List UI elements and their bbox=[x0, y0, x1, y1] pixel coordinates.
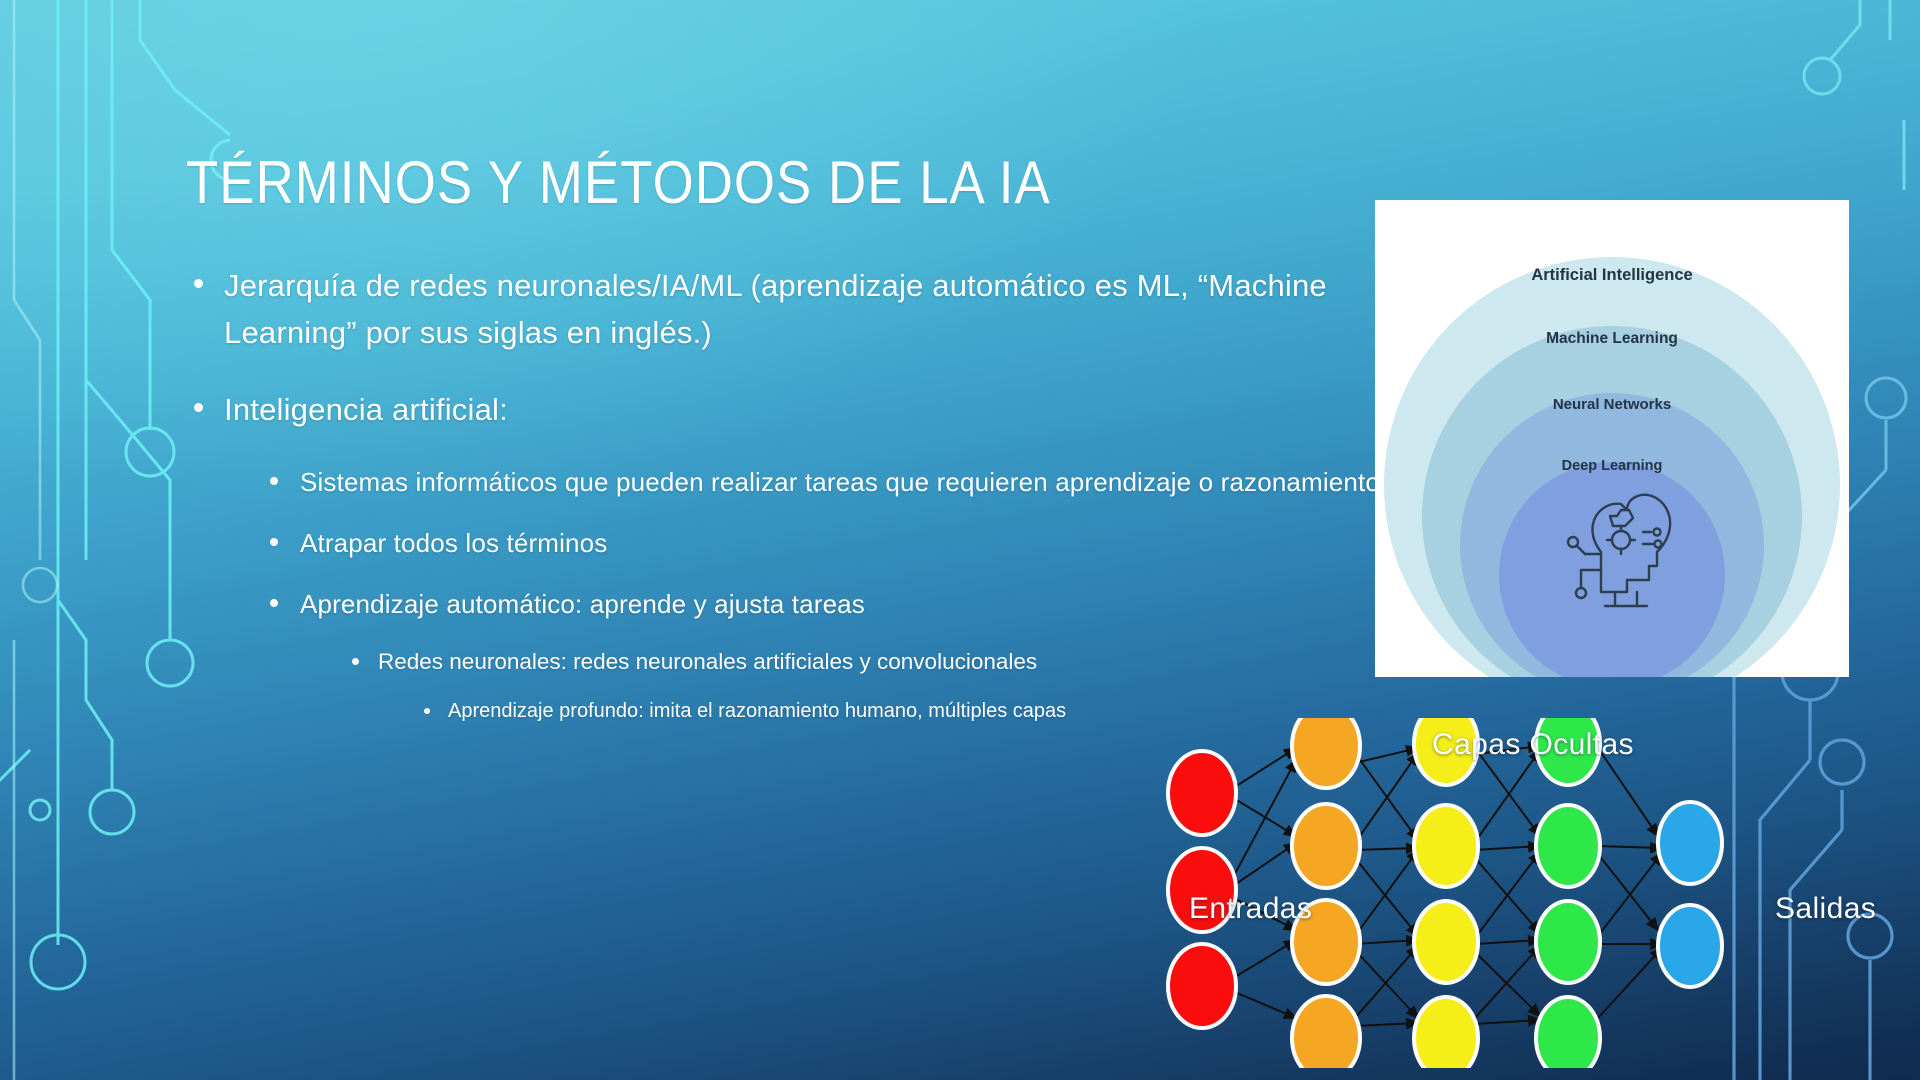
bullet-text: Jerarquía de redes neuronales/IA/ML (apr… bbox=[224, 262, 1386, 356]
bullet-level1: Inteligencia artificial: bbox=[186, 386, 1386, 433]
nn-label-outputs: Salidas bbox=[1775, 892, 1876, 926]
bullet-text: Aprendizaje automático: aprende y ajusta… bbox=[300, 585, 1386, 624]
nn-node bbox=[1536, 901, 1600, 983]
nn-node bbox=[1414, 997, 1478, 1068]
nn-label-inputs: Entradas bbox=[1189, 892, 1312, 926]
venn-label-dl: Deep Learning bbox=[1562, 458, 1663, 474]
nn-layer-inputs bbox=[1168, 751, 1236, 1028]
presentation-slide: TÉRMINOS Y MÉTODOS DE LA IA Jerarquía de… bbox=[0, 0, 1920, 1080]
bullet-dot-icon bbox=[194, 279, 203, 288]
venn-svg: Artificial Intelligence Machine Learning… bbox=[1375, 200, 1849, 677]
bullet-dot-icon bbox=[352, 658, 359, 665]
bullet-text: Sistemas informáticos que pueden realiza… bbox=[300, 463, 1386, 502]
nn-node bbox=[1658, 905, 1722, 987]
nn-node bbox=[1536, 997, 1600, 1068]
bullet-text: Redes neuronales: redes neuronales artif… bbox=[378, 646, 1386, 679]
nn-node bbox=[1536, 805, 1600, 887]
bullet-dot-icon bbox=[424, 708, 430, 714]
bullet-text: Inteligencia artificial: bbox=[224, 386, 1386, 433]
nn-node bbox=[1292, 996, 1360, 1068]
venn-label-ml: Machine Learning bbox=[1546, 330, 1678, 347]
nn-layer-outputs bbox=[1658, 802, 1722, 987]
bullet-level2: Aprendizaje automático: aprende y ajusta… bbox=[186, 585, 1386, 624]
bullet-level2: Sistemas informáticos que pueden realiza… bbox=[186, 463, 1386, 502]
nn-layer-hidden-3 bbox=[1536, 718, 1600, 1068]
nn-node bbox=[1658, 802, 1722, 884]
nn-node bbox=[1168, 751, 1236, 835]
bullet-dot-icon bbox=[270, 538, 278, 546]
slide-body: Jerarquía de redes neuronales/IA/ML (apr… bbox=[186, 262, 1386, 736]
nn-node bbox=[1292, 718, 1360, 788]
nn-label-hidden-layers: Capas Ocultas bbox=[1432, 728, 1634, 762]
bullet-level3: Redes neuronales: redes neuronales artif… bbox=[186, 646, 1386, 679]
nn-node bbox=[1414, 901, 1478, 983]
nn-node bbox=[1292, 804, 1360, 888]
bullet-dot-icon bbox=[194, 403, 203, 412]
venn-label-nn: Neural Networks bbox=[1553, 396, 1671, 413]
nn-layer-hidden-2 bbox=[1414, 718, 1478, 1068]
ai-hierarchy-venn-image: Artificial Intelligence Machine Learning… bbox=[1375, 200, 1849, 677]
venn-label-ai: Artificial Intelligence bbox=[1531, 266, 1692, 284]
bullet-dot-icon bbox=[270, 477, 278, 485]
bullet-level2: Atrapar todos los términos bbox=[186, 524, 1386, 563]
bullet-dot-icon bbox=[270, 599, 278, 607]
slide-title: TÉRMINOS Y MÉTODOS DE LA IA bbox=[186, 148, 1051, 217]
bullet-level1: Jerarquía de redes neuronales/IA/ML (apr… bbox=[186, 262, 1386, 356]
nn-node bbox=[1168, 944, 1236, 1028]
bullet-text: Atrapar todos los términos bbox=[300, 524, 1386, 563]
nn-node bbox=[1414, 805, 1478, 887]
